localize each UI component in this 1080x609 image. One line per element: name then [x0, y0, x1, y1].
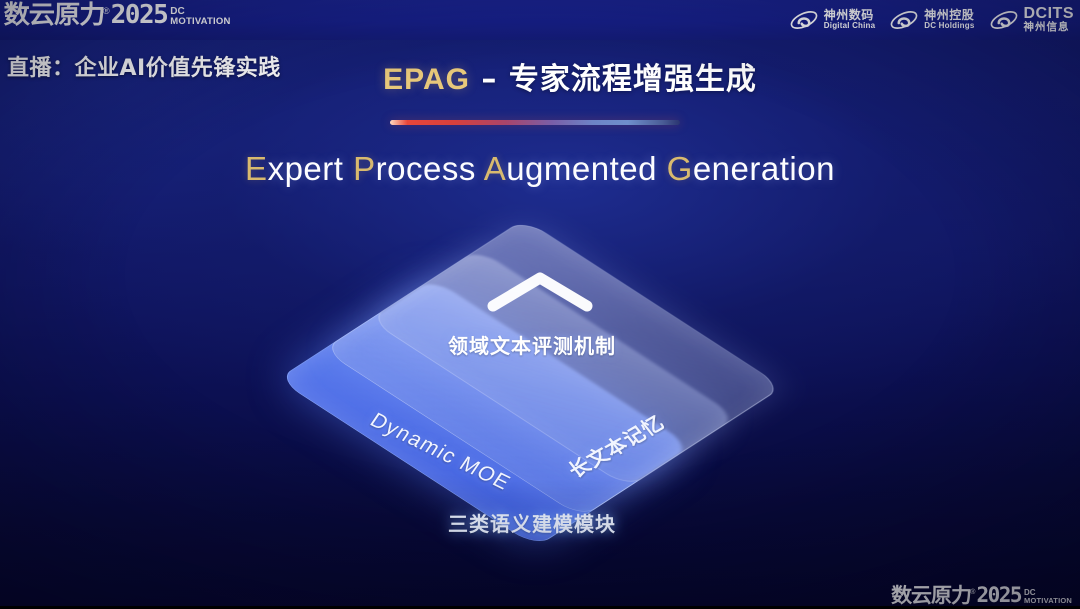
- partner-name-cn: 神州信息: [1024, 22, 1075, 33]
- partner-name-cn: 神州控股: [924, 9, 974, 22]
- subtitle-cap-e: E: [245, 150, 268, 187]
- footer-brand-motivation: MOTIVATION: [1024, 597, 1072, 605]
- brand-logo-chinese: 数云原力: [4, 2, 105, 27]
- footer-brand-chinese: 数云原力: [891, 585, 971, 605]
- partner-label-dc-holdings: 神州控股 DC Holdings: [924, 9, 974, 30]
- page-subtitle: Expert Process Augmented Generation: [0, 150, 1080, 188]
- brand-logo-dc-motivation: DC MOTIVATION: [170, 7, 230, 27]
- page-title-separator: –: [470, 62, 509, 97]
- partner-name-cn: 神州数码: [824, 9, 876, 22]
- chevron-up-icon: [485, 270, 595, 312]
- subtitle-rest-expert: xpert: [268, 150, 344, 187]
- brand-logo-dc: DC: [170, 7, 230, 17]
- subtitle-rest-process: rocess: [376, 150, 476, 187]
- diagram-label-top: 领域文本评测机制: [448, 330, 616, 359]
- partner-logo-digital-china: 神州数码 Digital China: [789, 7, 876, 33]
- subtitle-space-3: [657, 150, 667, 187]
- partner-label-dcits: DCITS 神州信息: [1024, 6, 1075, 33]
- footer-brand-dc-motivation: DC MOTIVATION: [1024, 589, 1072, 605]
- footer-brand-year: 2025: [976, 585, 1021, 606]
- swirl-logo-icon: [989, 7, 1019, 33]
- page-title-chinese: 专家流程增强生成: [509, 62, 757, 97]
- page-title-acronym: EPAG: [383, 63, 470, 96]
- partner-label-digital-china: 神州数码 Digital China: [824, 9, 876, 30]
- swirl-logo-icon: [889, 7, 919, 33]
- partner-name-en: Digital China: [824, 22, 876, 30]
- diagram-label-bottom: 三类语义建模模块: [448, 508, 616, 537]
- footer-brand-registered-mark: ®: [970, 589, 975, 596]
- slide-canvas: 数云原力 ® 2025 DC MOTIVATION 直播：企业AI价值先锋实践 …: [0, 0, 1080, 609]
- subtitle-cap-g: G: [667, 150, 693, 187]
- subtitle-cap-a: A: [484, 150, 507, 187]
- brand-logo: 数云原力 ® 2025 DC MOTIVATION: [6, 1, 231, 27]
- partner-name-en: DC Holdings: [924, 22, 974, 30]
- partner-logo-group: 神州数码 Digital China 神州控股 DC Holdings: [789, 6, 1074, 33]
- brand-logo-year: 2025: [111, 2, 168, 28]
- footer-brand-logo: 数云原力 ® 2025 DC MOTIVATION: [893, 584, 1072, 605]
- layered-architecture-diagram: 领域文本评测机制 Dynamic MOE 长文本记忆 三类语义建模模块: [300, 225, 780, 565]
- partner-logo-dcits: DCITS 神州信息: [989, 6, 1075, 33]
- brand-logo-registered-mark: ®: [103, 7, 110, 16]
- brand-logo-motivation: MOTIVATION: [170, 17, 230, 27]
- partner-logo-dc-holdings: 神州控股 DC Holdings: [889, 7, 974, 33]
- subtitle-cap-p: P: [353, 150, 376, 187]
- title-divider: [390, 120, 680, 125]
- page-title: EPAG – 专家流程增强生成: [0, 54, 1080, 98]
- subtitle-space-1: [343, 150, 353, 187]
- partner-name-en: DCITS: [1024, 6, 1075, 22]
- subtitle-space-2: [476, 150, 484, 187]
- swirl-logo-icon: [789, 7, 819, 33]
- subtitle-rest-augmented: ugmented: [506, 150, 657, 187]
- subtitle-rest-generation: eneration: [693, 150, 835, 187]
